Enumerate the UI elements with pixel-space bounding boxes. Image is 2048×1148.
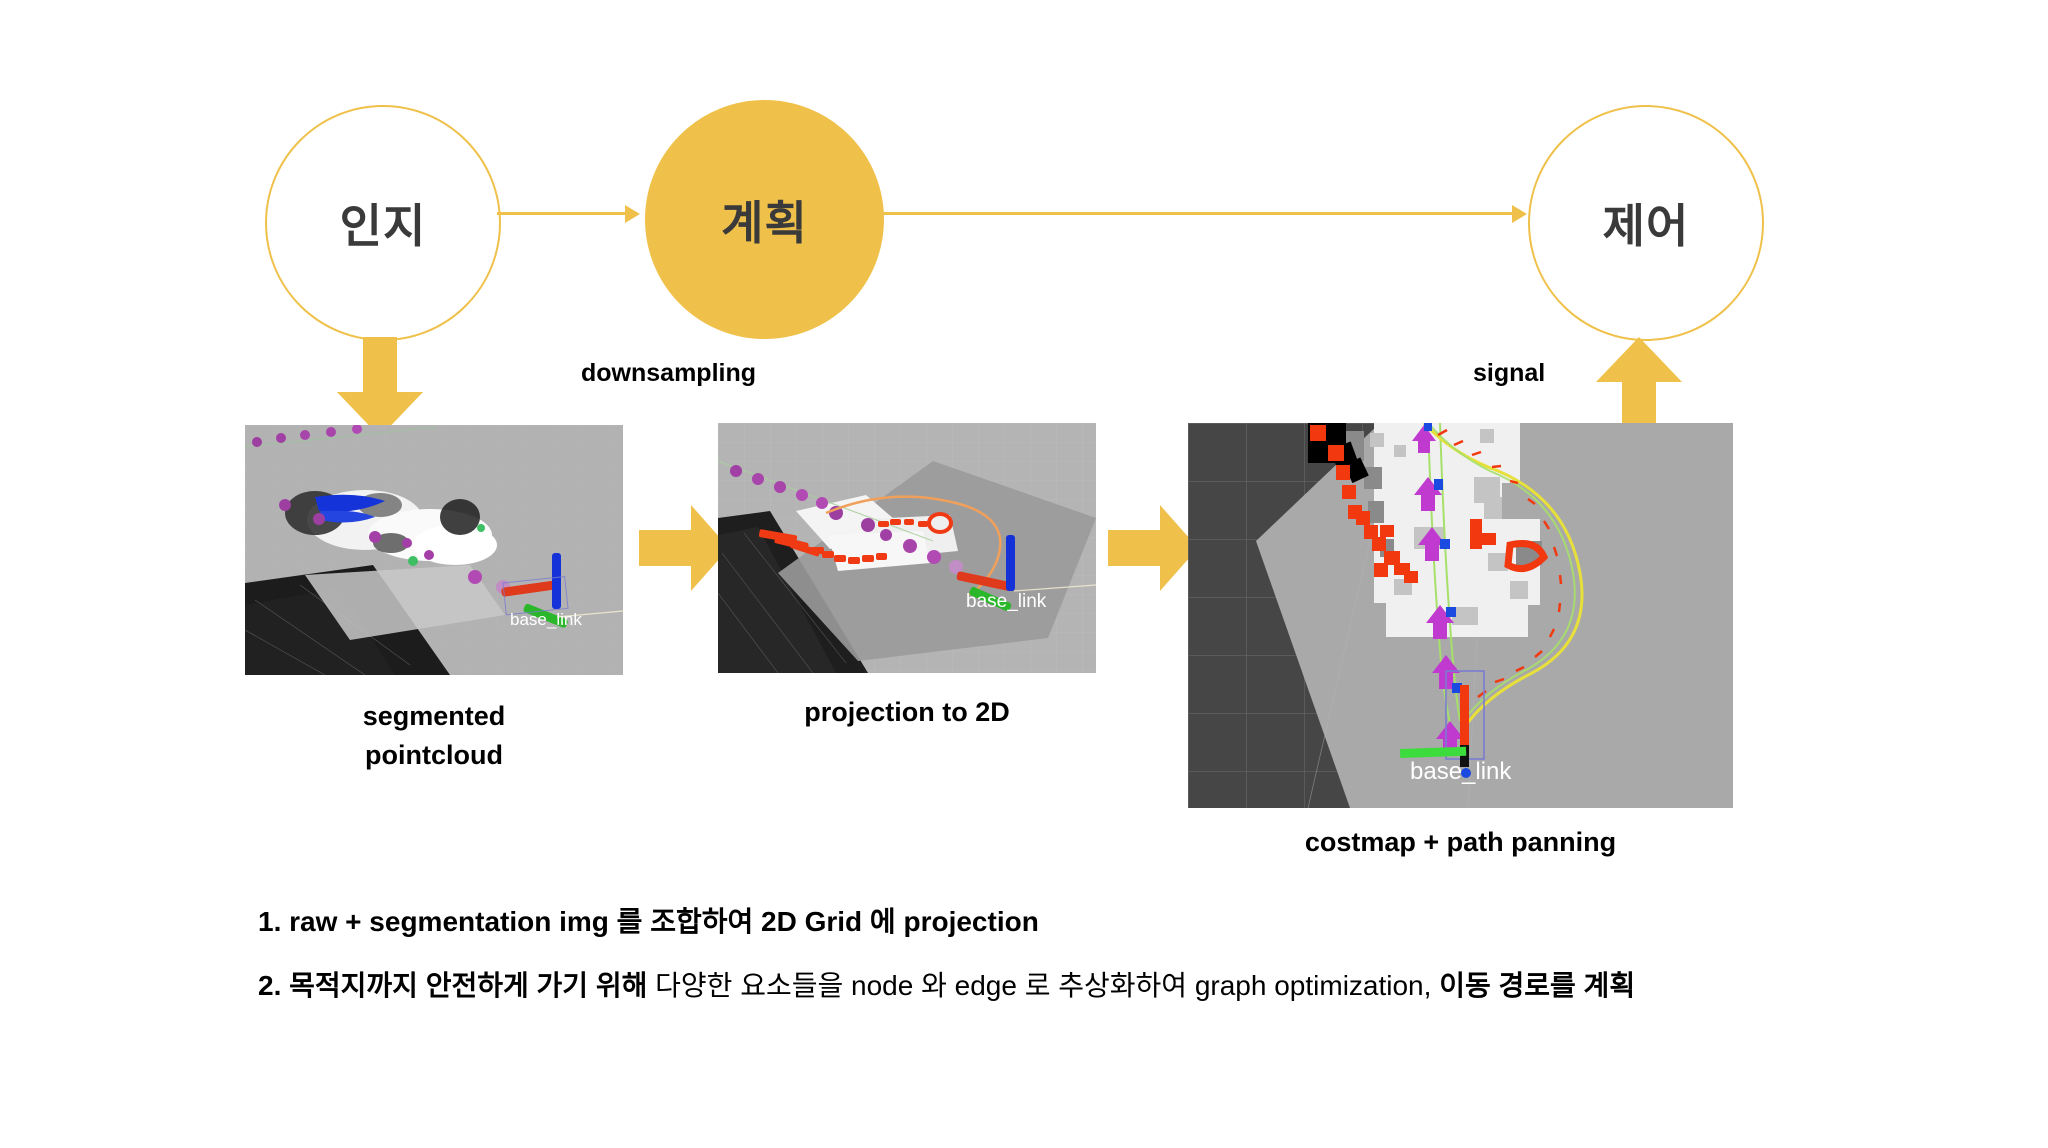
edge-label-downsampling: downsampling: [581, 359, 756, 388]
note-item-2: 2. 목적지까지 안전하게 가기 위해 다양한 요소들을 node 와 edge…: [258, 964, 1635, 1004]
arrow-down-icon: [337, 337, 423, 437]
note-2-number: 2.: [258, 970, 281, 1001]
edge-label-signal: signal: [1473, 359, 1545, 388]
visualization-segmented-pointcloud[interactable]: base_link: [245, 425, 623, 675]
arrow-up-icon: [1596, 337, 1682, 437]
pipeline-node-planning-label: 계획: [721, 187, 808, 253]
pipeline-node-perception-label: 인지: [340, 190, 427, 256]
connector-arrowhead-icon: [1512, 205, 1527, 223]
note-2-text-bold-end: 이동 경로를 계획: [1439, 970, 1635, 1001]
caption-line-2: pointcloud: [245, 736, 623, 775]
caption-projection-2d: projection to 2D: [718, 697, 1096, 728]
svg-text:base_link: base_link: [510, 610, 582, 629]
pipeline-node-control[interactable]: 제어: [1528, 105, 1764, 341]
pipeline-node-perception[interactable]: 인지: [265, 105, 501, 341]
svg-text:base_link: base_link: [1410, 758, 1512, 785]
connector-perception-to-planning: [497, 212, 637, 215]
arrow-right-icon: [1108, 505, 1198, 591]
caption-costmap-path: costmap + path panning: [1188, 827, 1733, 858]
note-1-number: 1.: [258, 906, 281, 937]
pipeline-node-control-label: 제어: [1603, 190, 1690, 256]
caption-segmented-pointcloud: segmented pointcloud: [245, 697, 623, 775]
arrow-right-icon: [639, 505, 729, 591]
note-2-text-regular: 다양한 요소들을 node 와 edge 로 추상화하여 graph optim…: [655, 970, 1431, 1001]
connector-planning-to-control: [880, 212, 1520, 215]
pipeline-node-planning[interactable]: 계획: [645, 100, 884, 339]
caption-line-1: segmented: [245, 697, 623, 736]
note-1-text: raw + segmentation img 를 조합하여 2D Grid 에 …: [289, 906, 1039, 937]
visualization-costmap-path[interactable]: base_link: [1188, 423, 1733, 808]
note-2-text-bold-start: 목적지까지 안전하게 가기 위해: [289, 970, 647, 1001]
visualization-projection-2d[interactable]: base_link: [718, 423, 1096, 673]
connector-arrowhead-icon: [625, 205, 640, 223]
slide-canvas: 인지 계획 제어 downsampling signal: [0, 0, 2048, 1148]
note-item-1: 1. raw + segmentation img 를 조합하여 2D Grid…: [258, 900, 1039, 940]
svg-text:base_link: base_link: [966, 591, 1047, 612]
